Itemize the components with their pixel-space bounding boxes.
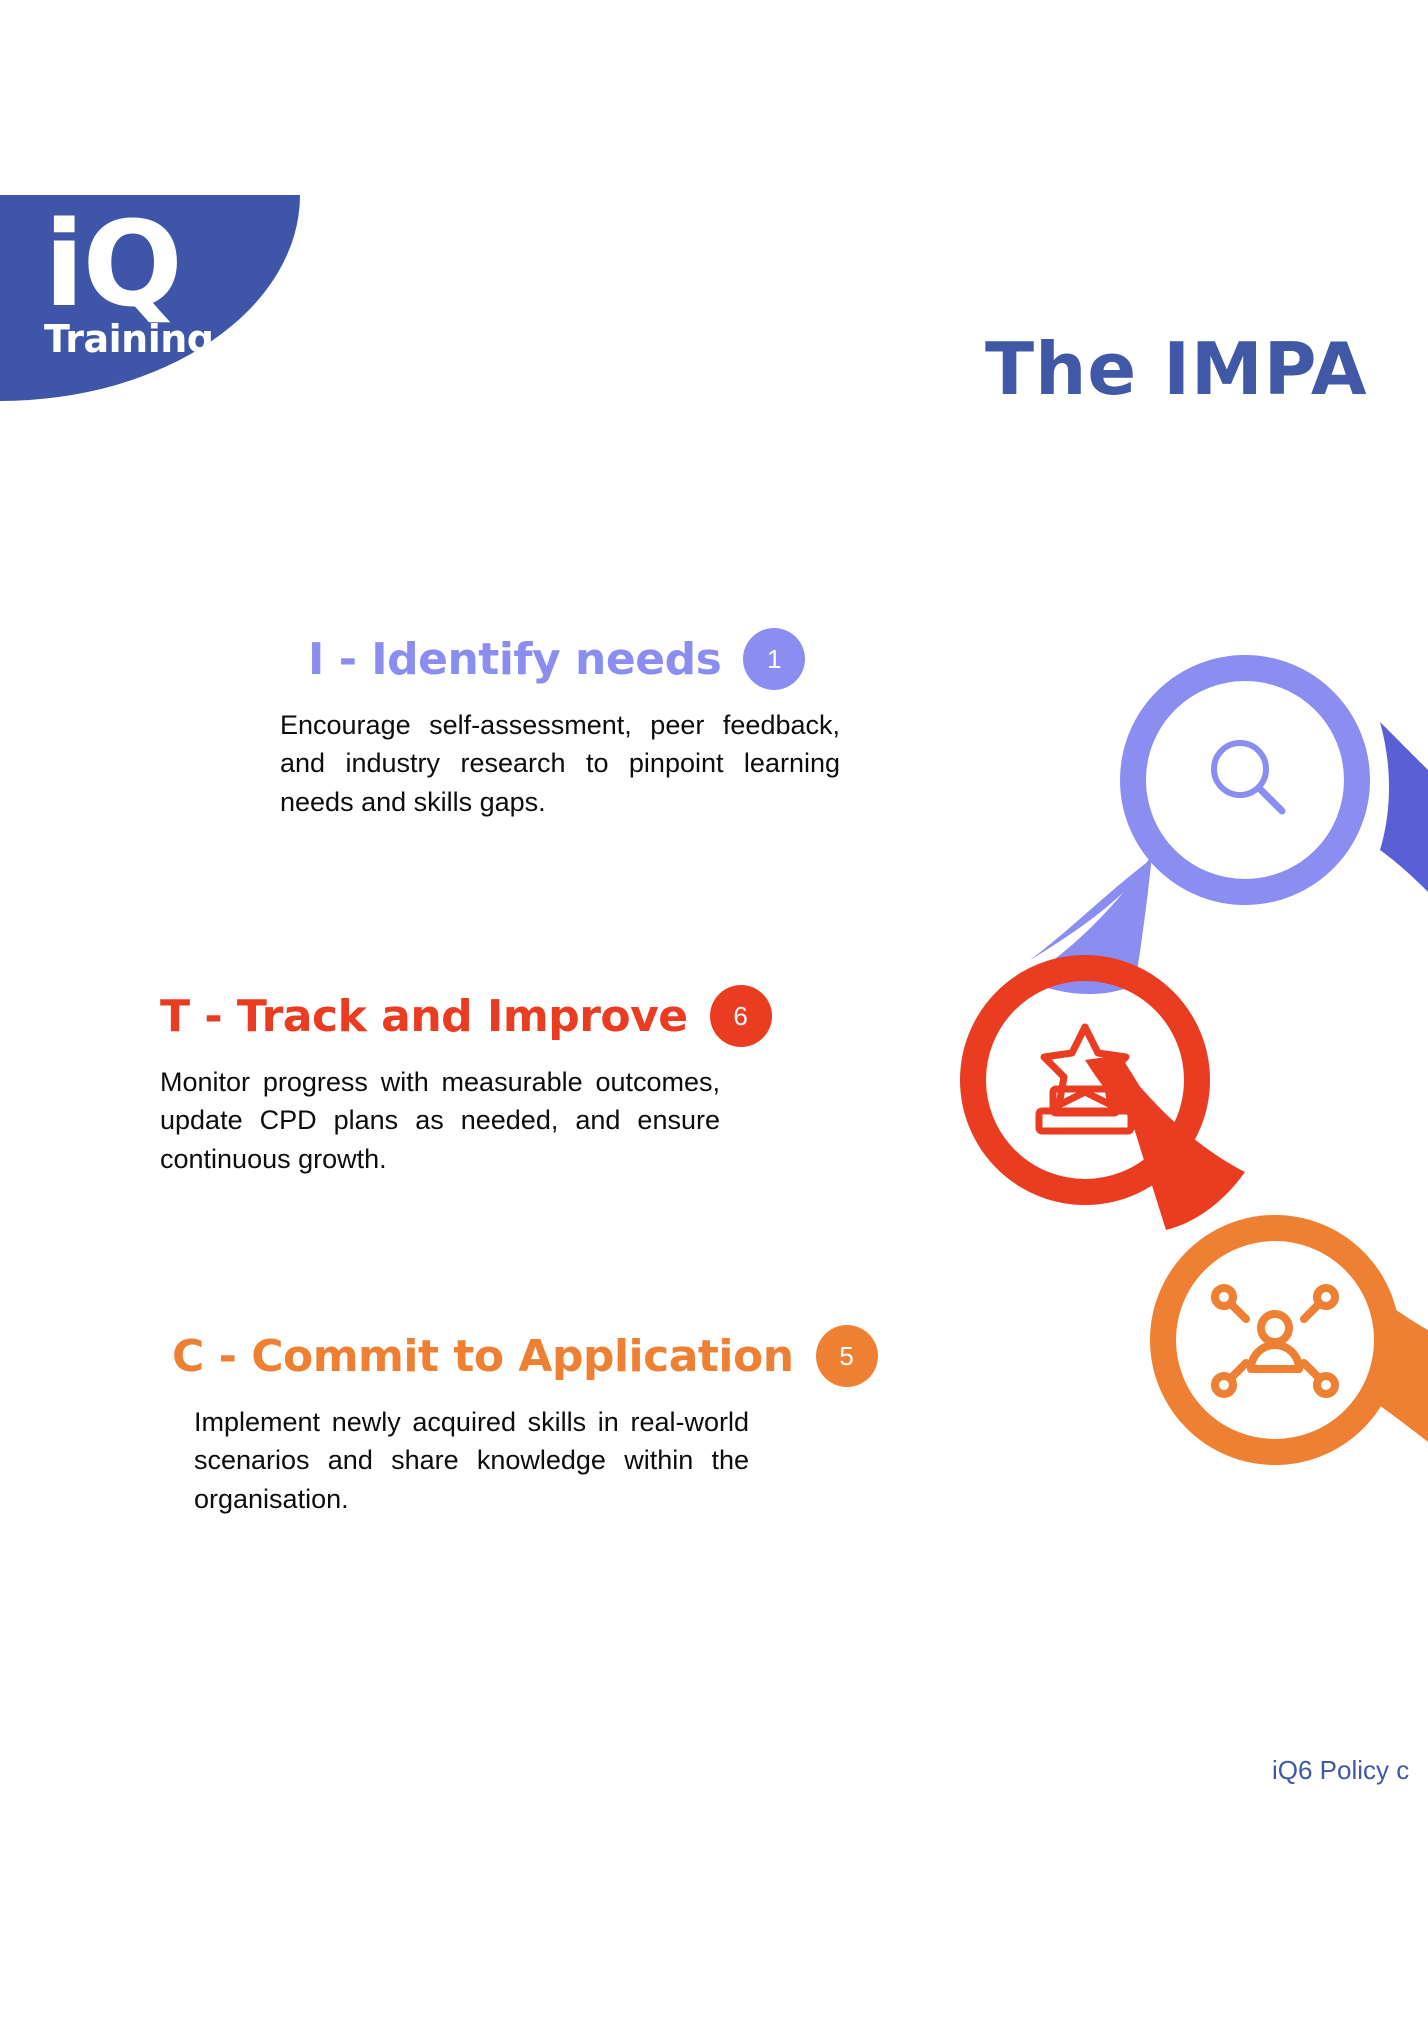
trophy-star-icon [1025,1017,1145,1137]
step-header-identify: I - Identify needs 1 [308,628,840,690]
graphic-node-identify [1120,655,1370,905]
step-block-track: T - Track and Improve 6 Monitor progress… [160,985,720,1178]
step-body-commit: Implement newly acquired skills in real-… [194,1403,749,1518]
step-body-identify: Encourage self-assessment, peer feedback… [280,706,840,821]
step-title-commit: C - Commit to Application [172,1331,794,1382]
step-body-track: Monitor progress with measurable outcome… [160,1063,720,1178]
logo-subtitle: Training [44,320,214,358]
graphic-node-track [960,955,1210,1205]
step-badge-track: 6 [710,985,772,1047]
step-badge-commit: 5 [816,1325,878,1387]
step-title-track: T - Track and Improve [160,991,688,1042]
step-badge-identify: 1 [743,628,805,690]
magnifier-icon [1198,729,1298,829]
step-block-commit: C - Commit to Application 5 Implement ne… [172,1325,752,1518]
network-person-icon [1208,1273,1342,1407]
step-header-commit: C - Commit to Application 5 [172,1325,752,1387]
step-title-identify: I - Identify needs [308,634,721,685]
logo: iQ Training [0,195,300,401]
step-block-identify: I - Identify needs 1 Encourage self-asse… [280,628,840,821]
logo-mark: iQ [44,205,181,323]
footer-text: iQ6 Policy c [1272,1755,1409,1786]
page-title: The IMPA [985,327,1368,411]
step-header-track: T - Track and Improve 6 [160,985,720,1047]
page-root: iQ Training The IMPA I - Identify needs … [0,0,1428,2018]
graphic-node-commit [1150,1215,1400,1465]
